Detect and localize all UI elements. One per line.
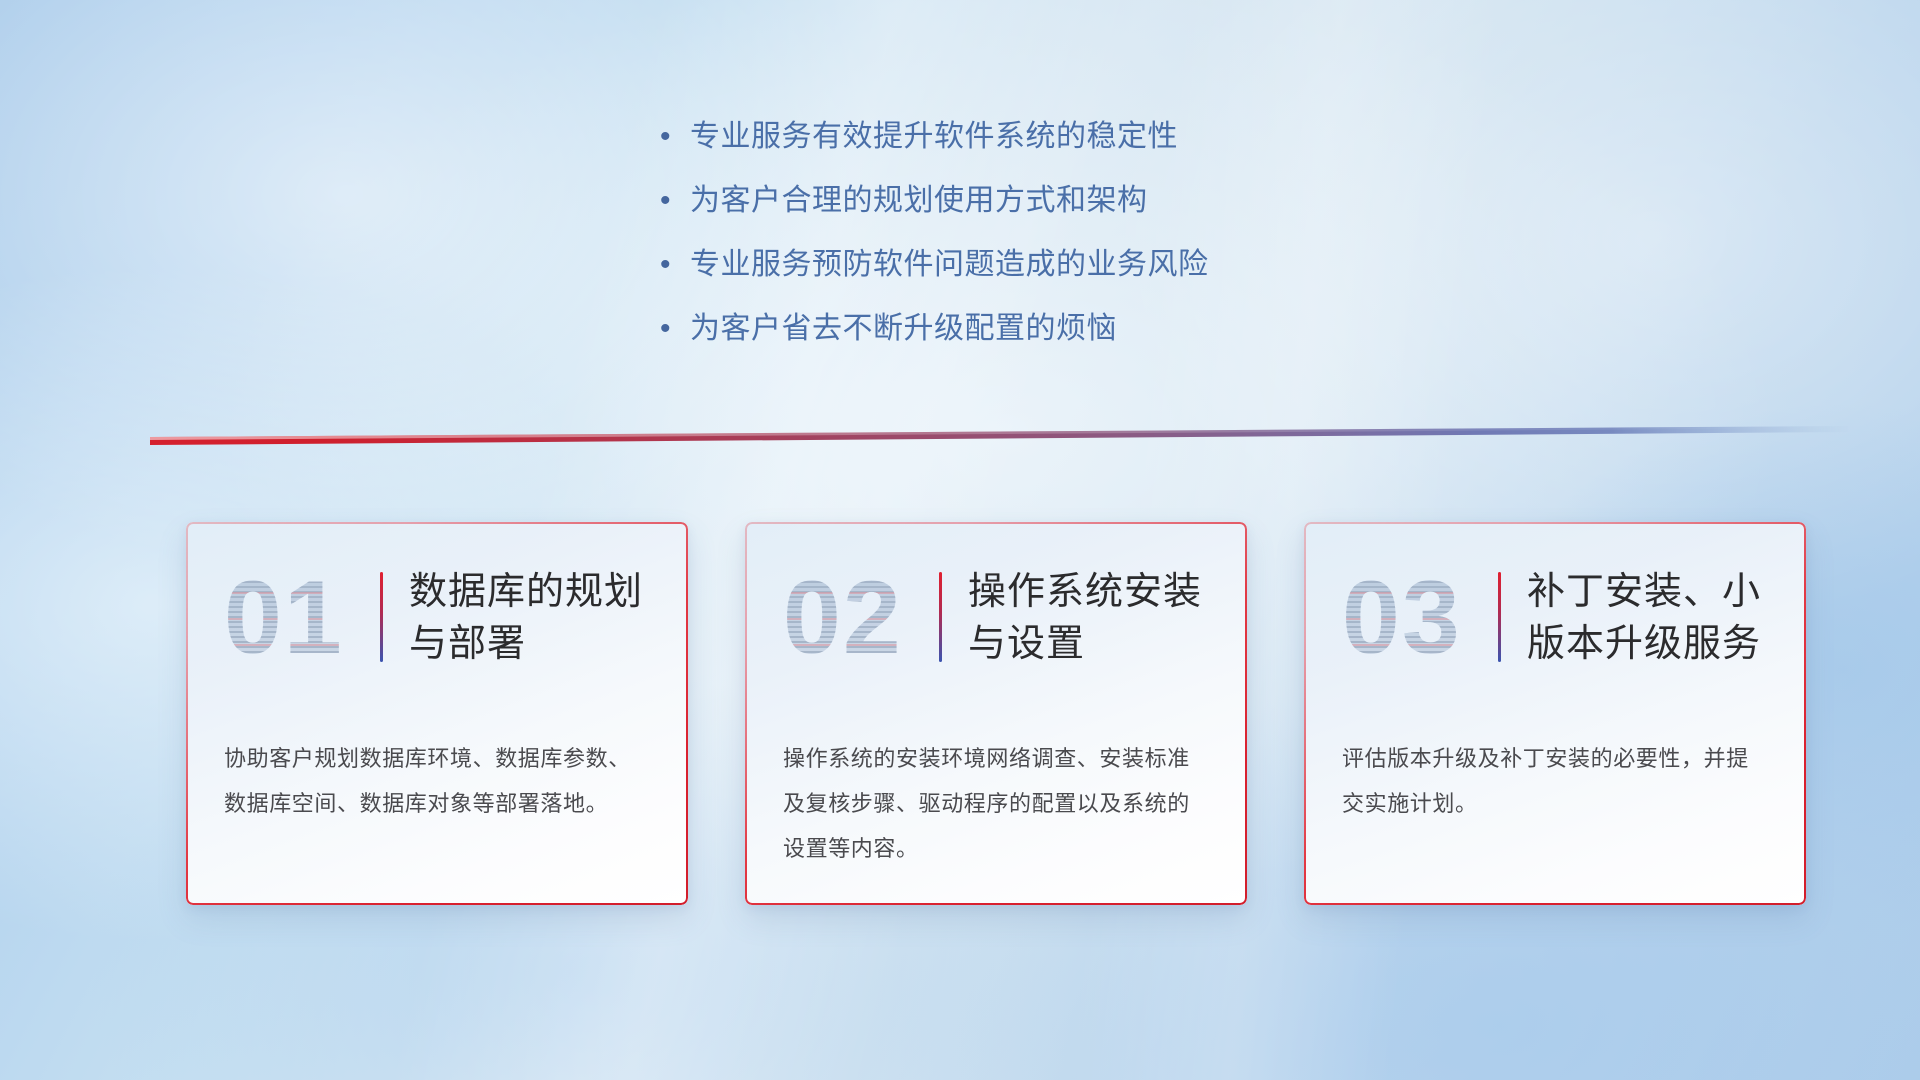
card-title: 操作系统安装与设置 [968,566,1205,670]
bullet-dot-icon: • [660,182,690,220]
card-number-scanline-tint: 03 [1342,566,1494,670]
card-accent-rule [380,572,383,662]
card-number-scanline-tint: 02 [783,566,935,670]
card-description: 协助客户规划数据库环境、数据库参数、数据库空间、数据库对象等部署落地。 [224,736,646,826]
service-card[interactable]: 0303 补丁安装、小版本升级服务 评估版本升级及补丁安装的必要性，并提交实施计… [1304,522,1806,905]
bullet-label: 为客户省去不断升级配置的烦恼 [690,310,1117,348]
benefits-bullet-list: • 专业服务有效提升软件系统的稳定性 • 为客户合理的规划使用方式和架构 • 专… [660,118,1420,374]
card-description: 操作系统的安装环境网络调查、安装标准及复核步骤、驱动程序的配置以及系统的设置等内… [783,736,1205,871]
bullet-dot-icon: • [660,246,690,284]
list-item: • 为客户省去不断升级配置的烦恼 [660,310,1420,348]
card-accent-rule [939,572,942,662]
card-accent-rule [1498,572,1501,662]
card-title: 补丁安装、小版本升级服务 [1527,566,1764,670]
card-header: 0202 操作系统安装与设置 [783,566,1205,686]
service-card[interactable]: 0202 操作系统安装与设置 操作系统的安装环境网络调查、安装标准及复核步骤、驱… [745,522,1247,905]
card-title: 数据库的规划与部署 [409,566,646,670]
bullet-dot-icon: • [660,310,690,348]
service-card[interactable]: 0101 数据库的规划与部署 协助客户规划数据库环境、数据库参数、数据库空间、数… [186,522,688,905]
slide-canvas: • 专业服务有效提升软件系统的稳定性 • 为客户合理的规划使用方式和架构 • 专… [0,0,1920,1080]
card-number-scanline-tint: 01 [224,566,376,670]
card-number-02: 0202 [783,566,935,670]
card-header: 0303 补丁安装、小版本升级服务 [1342,566,1764,686]
list-item: • 专业服务预防软件问题造成的业务风险 [660,246,1420,284]
bullet-label: 专业服务预防软件问题造成的业务风险 [690,246,1209,284]
bullet-label: 为客户合理的规划使用方式和架构 [690,182,1148,220]
list-item: • 专业服务有效提升软件系统的稳定性 [660,118,1420,156]
card-header: 0101 数据库的规划与部署 [224,566,646,686]
card-description: 评估版本升级及补丁安装的必要性，并提交实施计划。 [1342,736,1764,826]
bullet-label: 专业服务有效提升软件系统的稳定性 [690,118,1178,156]
bullet-dot-icon: • [660,118,690,156]
list-item: • 为客户合理的规划使用方式和架构 [660,182,1420,220]
card-number-01: 0101 [224,566,376,670]
service-card-row: 0101 数据库的规划与部署 协助客户规划数据库环境、数据库参数、数据库空间、数… [186,522,1806,905]
card-number-03: 0303 [1342,566,1494,670]
